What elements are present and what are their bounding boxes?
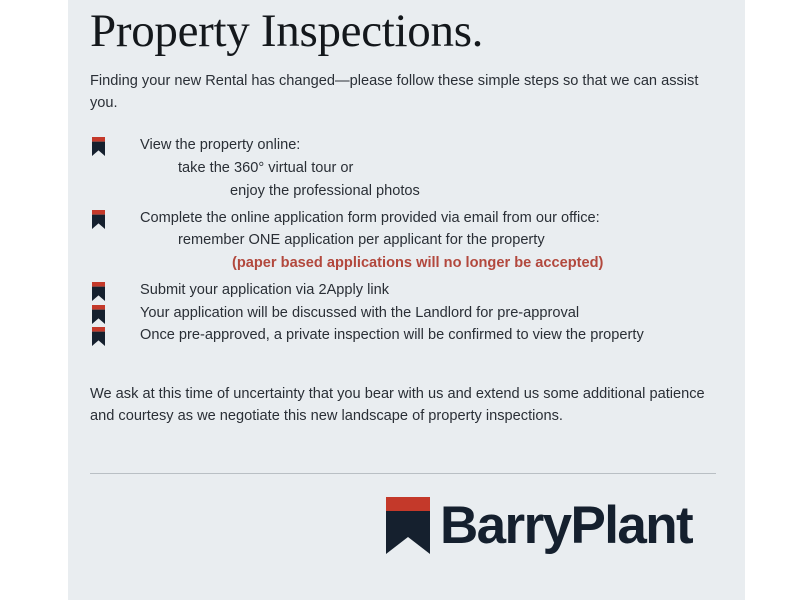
step-warning-text: (paper based applications will no longer… — [140, 252, 725, 275]
step-sub-text: take the 360° virtual tour or — [140, 157, 725, 180]
page-title: Property Inspections. — [90, 0, 725, 55]
list-item: Complete the online application form pro… — [90, 207, 725, 275]
list-item: Once pre-approved, a private inspection … — [90, 324, 725, 347]
bookmark-icon — [92, 210, 105, 229]
intro-paragraph: Finding your new Rental has changed—plea… — [90, 55, 715, 114]
bookmark-icon — [92, 305, 105, 324]
brand-name: BarryPlant — [440, 499, 692, 552]
list-item: Your application will be discussed with … — [90, 302, 725, 325]
closing-paragraph: We ask at this time of uncertainty that … — [90, 347, 727, 427]
step-sub-text: remember ONE application per applicant f… — [140, 229, 725, 252]
brand-logo: BarryPlant — [386, 497, 692, 554]
bookmark-icon — [92, 327, 105, 346]
list-item: View the property online: take the 360° … — [90, 134, 725, 202]
step-main-text: View the property online: — [140, 134, 725, 157]
divider — [90, 473, 716, 474]
step-sub-text: enjoy the professional photos — [140, 180, 725, 203]
flyer-card: Property Inspections. Finding your new R… — [68, 0, 745, 600]
step-main-text: Your application will be discussed with … — [140, 302, 725, 325]
bookmark-icon — [92, 282, 105, 301]
step-main-text: Complete the online application form pro… — [140, 207, 725, 230]
step-main-text: Once pre-approved, a private inspection … — [140, 324, 725, 347]
step-main-text: Submit your application via 2Apply link — [140, 279, 725, 302]
steps-list: View the property online: take the 360° … — [90, 114, 725, 347]
bookmark-icon — [92, 137, 105, 156]
bookmark-icon — [386, 497, 430, 554]
list-item: Submit your application via 2Apply link — [90, 279, 725, 302]
